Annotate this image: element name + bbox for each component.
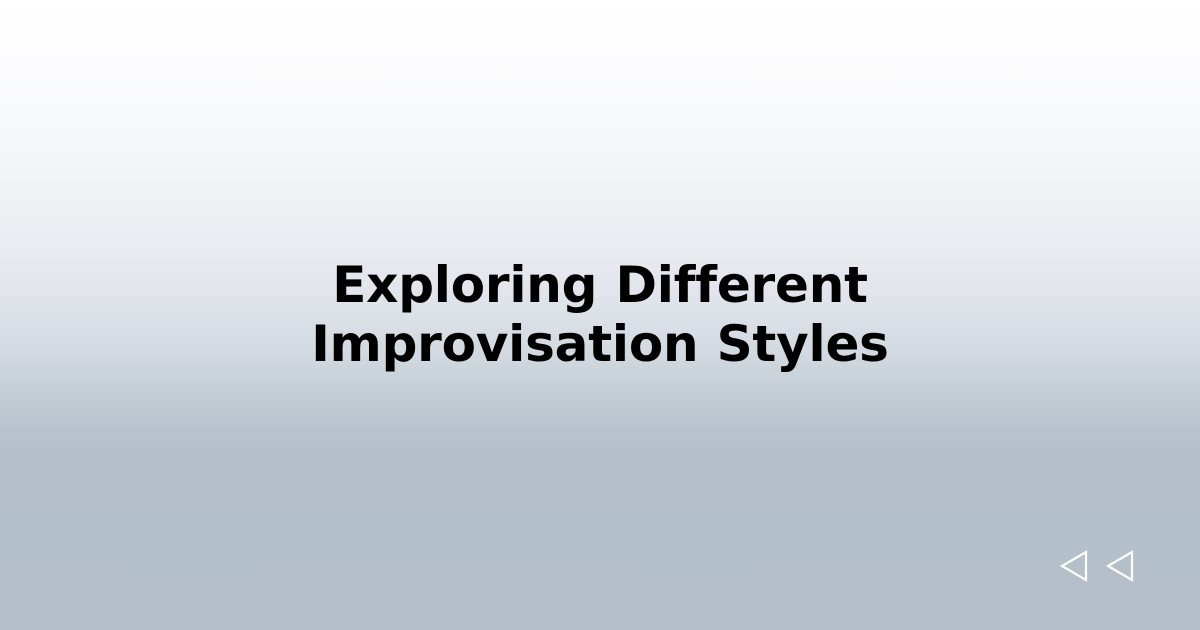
page-title: Exploring Different Improvisation Styles bbox=[185, 256, 1015, 374]
title-container: Exploring Different Improvisation Styles bbox=[0, 0, 1200, 630]
triangle-left-outline-icon-second[interactable] bbox=[1102, 547, 1142, 585]
triangle-left-outline-icon[interactable] bbox=[1056, 547, 1096, 585]
presentation-slide: Exploring Different Improvisation Styles bbox=[0, 0, 1200, 630]
navigation-arrows[interactable] bbox=[1056, 547, 1142, 585]
